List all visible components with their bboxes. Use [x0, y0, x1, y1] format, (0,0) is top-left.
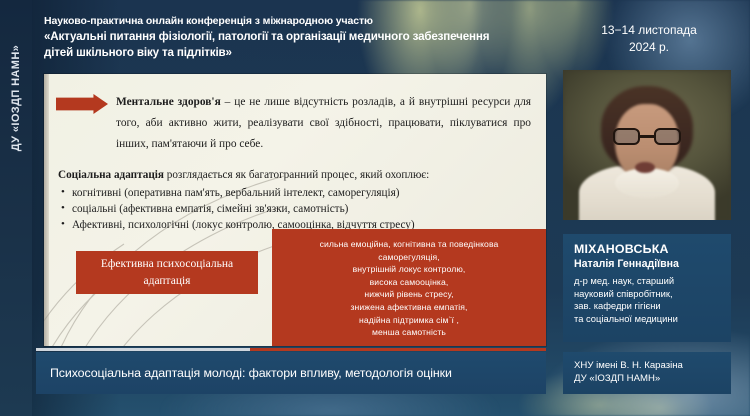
left-institute-rail: ДУ «ІОЗДП НАМН»	[0, 0, 32, 416]
social-adaptation-lead: Соціальна адаптація розглядається як баг…	[58, 168, 538, 184]
presentation-title-bar: Психосоціальна адаптація молоді: фактори…	[36, 352, 546, 394]
red-arrow-icon	[56, 94, 108, 114]
conference-date-days: 13−14 листопада	[564, 22, 734, 39]
factor-line: менша самотність	[280, 326, 538, 339]
factor-line: надійна підтримка сім`ї ,	[280, 314, 538, 327]
factor-line: внутрішній локус контролю,	[280, 263, 538, 276]
affiliation-line: ДУ «ІОЗДП НАМН»	[574, 372, 731, 385]
speaker-info-card: МІХАНОВСЬКА Наталія Геннадіївна д-р мед.…	[563, 234, 731, 342]
speaker-role-line: зав. кафедри гігієни	[574, 300, 721, 313]
conference-header: Науково-практична онлайн конференція з м…	[44, 14, 544, 61]
factor-line: знижена афективна емпатія,	[280, 301, 538, 314]
factor-line: нижчий рівень стресу,	[280, 288, 538, 301]
speaker-role-line: д-р мед. наук, старший	[574, 275, 721, 288]
social-adaptation-block: Соціальна адаптація розглядається як баг…	[58, 168, 538, 233]
speaker-role-line: науковий співробітник,	[574, 288, 721, 301]
speaker-video-feed[interactable]	[563, 70, 731, 220]
factor-line: саморегуляція,	[280, 251, 538, 264]
list-item: когнітивні (оперативна пам'ять, вербальн…	[58, 185, 538, 201]
affiliation-line: ХНУ імені В. Н. Каразіна	[574, 359, 731, 372]
glasses-icon	[613, 128, 681, 145]
factor-line: висока самооцінка,	[280, 276, 538, 289]
speaker-given-name: Наталія Геннадіївна	[574, 257, 721, 272]
speaker-role-line: та соціальної медицини	[574, 313, 721, 326]
conference-date-year: 2024 р.	[564, 39, 734, 56]
conference-title-line-1: «Актуальні питання фізіології, патології…	[44, 29, 544, 45]
caption-accent-rule	[36, 348, 546, 351]
social-adaptation-term: Соціальна адаптація	[58, 169, 164, 181]
mental-health-term: Ментальне здоров'я	[116, 96, 221, 108]
factor-line: сильна емоційна, когнітивна та поведінко…	[280, 238, 538, 251]
social-adaptation-list: когнітивні (оперативна пам'ять, вербальн…	[58, 185, 538, 233]
conference-subtitle: Науково-практична онлайн конференція з м…	[44, 14, 544, 29]
speaker-surname: МІХАНОВСЬКА	[574, 242, 721, 257]
institute-vertical-label: ДУ «ІОЗДП НАМН»	[10, 45, 22, 151]
speaker-role: д-р мед. наук, старший науковий співробі…	[574, 275, 721, 325]
mental-health-paragraph: Ментальне здоров'я – це не лише відсутні…	[116, 92, 531, 155]
speaker-affiliation-card: ХНУ імені В. Н. Каразіна ДУ «ІОЗДП НАМН»	[563, 352, 731, 394]
conference-stream-stage: ДУ «ІОЗДП НАМН» Науково-практична онлайн…	[0, 0, 750, 416]
conference-title-line-2: дітей шкільного віку та підлітків»	[44, 45, 544, 61]
adaptation-factors-panel: сильна емоційна, когнітивна та поведінко…	[272, 229, 546, 346]
conference-date: 13−14 листопада 2024 р.	[564, 22, 734, 56]
list-item: соціальні (афективна емпатія, сімейні зв…	[58, 201, 538, 217]
effective-adaptation-label: Ефективна психосоціальна адаптація	[76, 251, 258, 294]
presentation-slide: Ментальне здоров'я – це не лише відсутні…	[44, 74, 546, 346]
social-adaptation-body: розглядається як багатогранний процес, я…	[164, 169, 429, 181]
speaker-mouth	[635, 162, 655, 173]
